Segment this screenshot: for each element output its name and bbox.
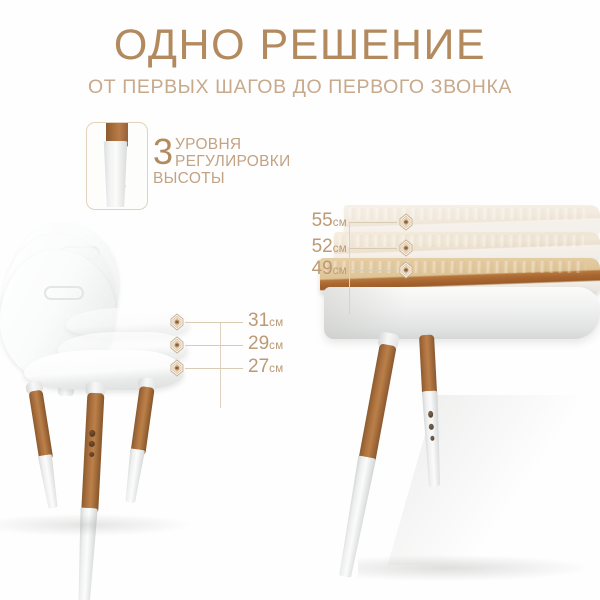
levels-line-2: РЕГУЛИРОВКИ [175, 153, 291, 170]
chair-callout-axis [220, 322, 221, 408]
promo-graphic: ОДНО РЕШЕНИЕ ОТ ПЕРВЫХ ШАГОВ ДО ПЕРВОГО … [0, 0, 600, 600]
adjustment-hole-icon [126, 197, 132, 203]
desk-height-label-3: 49см [285, 258, 347, 282]
page-subtitle: ОТ ПЕРВЫХ ШАГОВ ДО ПЕРВОГО ЗВОНКА [0, 76, 600, 98]
chair-leg-right [114, 376, 164, 507]
page-title: ОДНО РЕШЕНИЕ [0, 22, 600, 68]
desk-height-label-1: 55см [285, 210, 347, 234]
chair-height-label-3: 27см [248, 356, 283, 380]
callout-leader-line [349, 222, 397, 223]
adjustment-point-icon [168, 359, 186, 377]
levels-line-3: ВЫСОТЫ [153, 170, 291, 187]
backrest-handle-slot [44, 286, 84, 300]
adjustment-point-icon [397, 239, 415, 257]
chair-illustration [0, 222, 200, 562]
levels-line-1: УРОВНЯ [175, 136, 291, 153]
chair-leg-center [66, 381, 112, 600]
desk-apron [324, 287, 600, 339]
callout-leader-line [185, 345, 243, 346]
adjustment-point-icon [168, 313, 186, 331]
leg-wood-segment [419, 335, 437, 398]
levels-description: УРОВНЯ РЕГУЛИРОВКИ ВЫСОТЫ [175, 136, 291, 187]
chair-height-label-1: 31см [248, 310, 283, 334]
chair-height-label-2: 29см [248, 333, 283, 357]
callout-leader-line [185, 368, 243, 369]
chair-floor-shadow [0, 514, 190, 536]
levels-count: 3 [153, 134, 173, 170]
leg-sleeve [100, 141, 131, 207]
callout-leader-line [349, 270, 397, 271]
adjustment-point-icon [168, 336, 186, 354]
callout-leader-line [349, 248, 397, 249]
adjustable-leg-detail-inset [86, 122, 148, 210]
adjustment-point-icon [397, 261, 415, 279]
desk-tabletop-position-high [344, 205, 600, 235]
leg-sleeve [121, 448, 147, 504]
desk-height-label-2: 52см [285, 236, 347, 260]
leg-sleeve [36, 454, 62, 510]
adjustment-point-icon [397, 213, 415, 231]
adjustment-hole-icon [125, 183, 132, 190]
desk-leg-back [408, 334, 450, 496]
desk-callout-axis [349, 222, 350, 314]
desk-floor-shadow [358, 555, 588, 581]
adjustment-hole-icon [430, 436, 434, 441]
leg-wood-segment [28, 390, 53, 461]
leg-wood-segment [358, 343, 397, 464]
callout-leader-line [185, 322, 243, 323]
leg-wood-segment [130, 386, 154, 455]
chair-leg-left [18, 380, 68, 513]
